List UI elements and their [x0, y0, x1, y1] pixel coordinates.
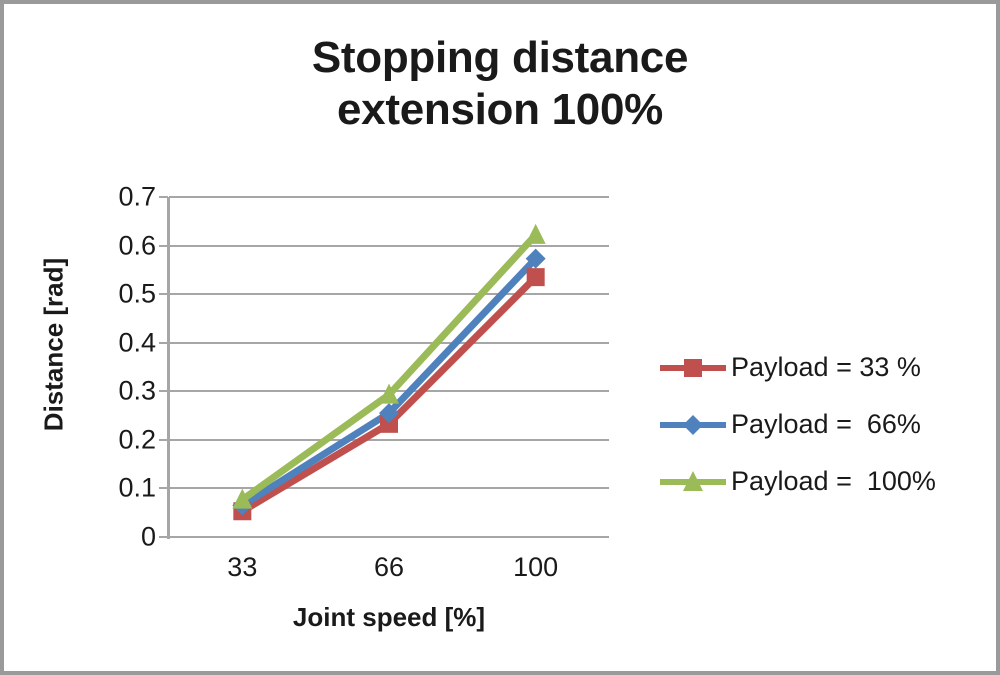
legend-item-label: Payload = 33 % — [727, 352, 921, 383]
y-axis-tick-mark — [159, 196, 168, 198]
legend-marker-square-icon — [659, 354, 727, 382]
x-axis-tick-label: 100 — [481, 552, 591, 583]
legend-item[interactable]: Payload = 100% — [659, 453, 989, 510]
legend-item[interactable]: Payload = 66% — [659, 396, 989, 453]
series-plot — [169, 197, 609, 537]
x-axis-tick-label: 66 — [334, 552, 444, 583]
legend-marker-diamond-icon — [659, 411, 727, 439]
data-point-marker-square — [684, 359, 702, 377]
x-axis-tick-label: 33 — [187, 552, 297, 583]
y-axis-tick-mark — [159, 536, 168, 538]
y-axis-tick-mark — [159, 390, 168, 392]
legend-marker-triangle-icon — [659, 468, 727, 496]
y-axis-tick-label: 0.6 — [94, 230, 156, 261]
y-axis-title: Distance [rad] — [39, 235, 70, 455]
y-axis-tick-label: 0 — [94, 522, 156, 553]
y-axis-tick-mark — [159, 293, 168, 295]
data-point-marker-square — [527, 268, 545, 286]
y-axis-tick-labels: 00.10.20.30.40.50.60.7 — [94, 4, 156, 675]
data-point-marker-diamond — [683, 415, 703, 435]
y-axis-tick-label: 0.2 — [94, 424, 156, 455]
legend-item[interactable]: Payload = 33 % — [659, 339, 989, 396]
y-axis-tick-mark — [159, 439, 168, 441]
y-axis-tick-label: 0.3 — [94, 376, 156, 407]
x-axis-tick-labels: 3366100 — [169, 552, 609, 592]
y-axis-tick-label: 0.1 — [94, 473, 156, 504]
y-axis-tick-mark — [159, 342, 168, 344]
y-axis-tick-label: 0.7 — [94, 182, 156, 213]
data-point-marker-triangle — [526, 224, 546, 244]
y-axis-tick-mark — [159, 487, 168, 489]
chart-screenshot: Stopping distance extension 100% Distanc… — [0, 0, 1000, 675]
y-axis-tick-label: 0.5 — [94, 279, 156, 310]
legend-item-label: Payload = 66% — [727, 409, 921, 440]
chart-legend: Payload = 33 % Payload = 66% Payload = 1… — [659, 339, 989, 510]
x-axis-title: Joint speed [%] — [169, 602, 609, 633]
series-line — [242, 235, 535, 500]
legend-item-label: Payload = 100% — [727, 466, 936, 497]
y-axis-tick-label: 0.4 — [94, 327, 156, 358]
y-axis-tick-mark — [159, 245, 168, 247]
